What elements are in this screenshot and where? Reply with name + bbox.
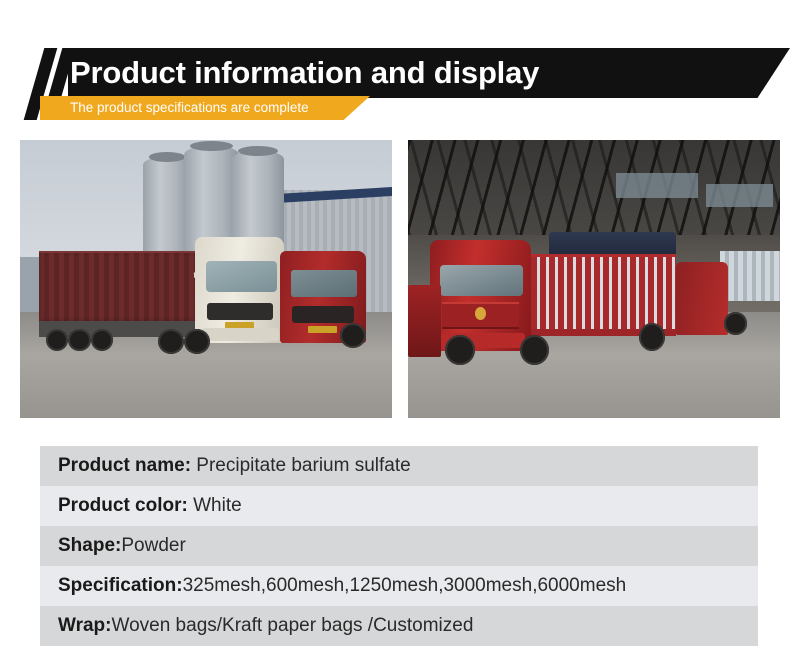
skylight-panel	[706, 184, 773, 206]
spec-label: Wrap:	[58, 615, 111, 636]
table-row: Specification:325mesh,600mesh,1250mesh,3…	[40, 566, 758, 606]
white-truck-cab	[195, 237, 284, 343]
tractor-wheel	[158, 329, 184, 354]
spec-label: Specification:	[58, 575, 183, 596]
spec-value: Precipitate barium sulfate	[191, 455, 411, 476]
table-row: Wrap:Woven bags/Kraft paper bags /Custom…	[40, 606, 758, 646]
faw-truck-cab	[430, 240, 530, 351]
bagged-product-load	[720, 251, 780, 301]
skylight-panel	[616, 173, 698, 198]
table-row: Product color: White	[40, 486, 758, 526]
spec-value: 325mesh,600mesh,1250mesh,3000mesh,6000me…	[183, 575, 627, 596]
silo-cap	[149, 152, 186, 162]
faw-emblem-icon	[475, 307, 486, 320]
warehouse-truck-loading-photo	[408, 140, 780, 418]
spec-value: Woven bags/Kraft paper bags /Customized	[111, 615, 473, 636]
windshield	[440, 265, 522, 296]
table-row: Shape:Powder	[40, 526, 758, 566]
spec-value: White	[188, 495, 242, 516]
product-specification-table: Product name: Precipitate barium sulfate…	[40, 446, 758, 646]
grille	[292, 306, 354, 323]
table-row: Product name: Precipitate barium sulfate	[40, 446, 758, 486]
trailer-wheel	[91, 329, 113, 351]
forklift	[408, 285, 441, 357]
grille	[207, 303, 273, 320]
truck-wheel	[724, 312, 746, 334]
tractor-wheel	[184, 329, 210, 354]
spec-label: Shape:	[58, 535, 121, 556]
license-plate	[308, 326, 337, 332]
spec-label: Product color:	[58, 495, 188, 516]
windshield	[206, 261, 277, 293]
spec-value: Powder	[121, 535, 185, 556]
silo-cap	[238, 146, 278, 156]
trailer-wheel	[68, 329, 90, 351]
silo-cap	[190, 141, 232, 151]
second-truck-cab	[676, 262, 728, 334]
truck-wheel	[445, 335, 475, 366]
windshield	[291, 270, 358, 298]
bumper	[202, 328, 279, 341]
container-truck-loading-photo: tex	[20, 140, 392, 418]
product-photo-gallery: tex	[0, 0, 800, 430]
truck-wheel	[639, 323, 665, 351]
spec-label: Product name:	[58, 455, 191, 476]
